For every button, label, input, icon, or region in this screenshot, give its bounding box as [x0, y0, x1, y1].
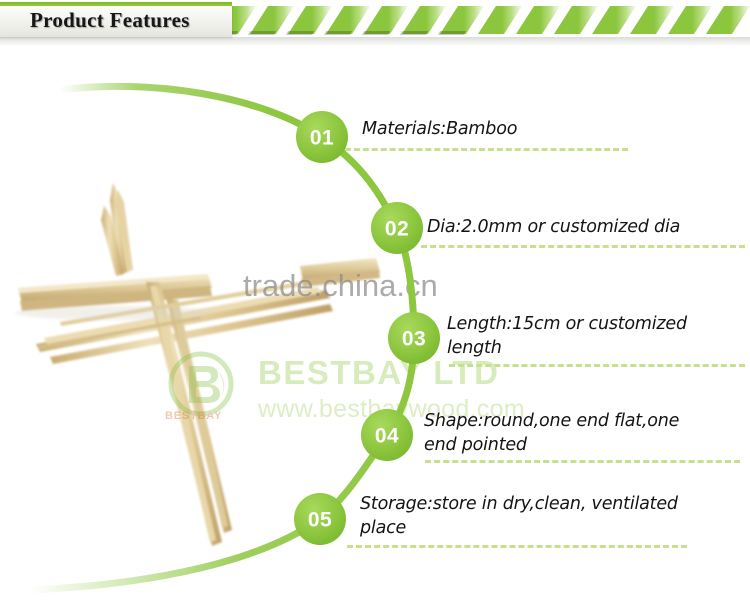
page-title: Product Features [30, 8, 190, 33]
feature-divider-03 [449, 364, 745, 367]
feature-divider-01 [345, 148, 628, 151]
node-number-label: 01 [310, 127, 334, 150]
feature-label-02: Dia:2.0mm or customized dia [427, 215, 680, 239]
feature-node-04[interactable]: 04 [361, 409, 413, 461]
feature-divider-05 [347, 545, 687, 548]
flow-curve-upper [60, 86, 414, 338]
node-number-label: 04 [375, 425, 399, 448]
feature-node-02[interactable]: 02 [371, 202, 423, 254]
feature-divider-02 [421, 245, 745, 248]
feature-label-05: Storage:store in dry,clean, ventilated p… [360, 492, 678, 540]
product-features-infographic: trade.china.cn BESTBAY BESTBAY LTD www.b… [0, 0, 750, 604]
feature-node-05[interactable]: 05 [294, 493, 346, 545]
header-accent-line [0, 2, 232, 6]
header-shadow [0, 37, 750, 46]
feature-divider-04 [425, 460, 740, 463]
feature-label-03: Length:15cm or customized length [447, 312, 687, 360]
feature-node-03[interactable]: 03 [388, 312, 440, 364]
node-number-label: 02 [385, 218, 409, 241]
node-number-label: 05 [308, 509, 332, 532]
header-banner: Product Features [0, 0, 750, 46]
feature-label-04: Shape:round,one end flat,one end pointed [424, 409, 679, 457]
flow-curve-lower [30, 338, 414, 590]
feature-label-01: Materials:Bamboo [362, 117, 517, 141]
feature-node-01[interactable]: 01 [296, 111, 348, 163]
node-number-label: 03 [402, 328, 426, 351]
